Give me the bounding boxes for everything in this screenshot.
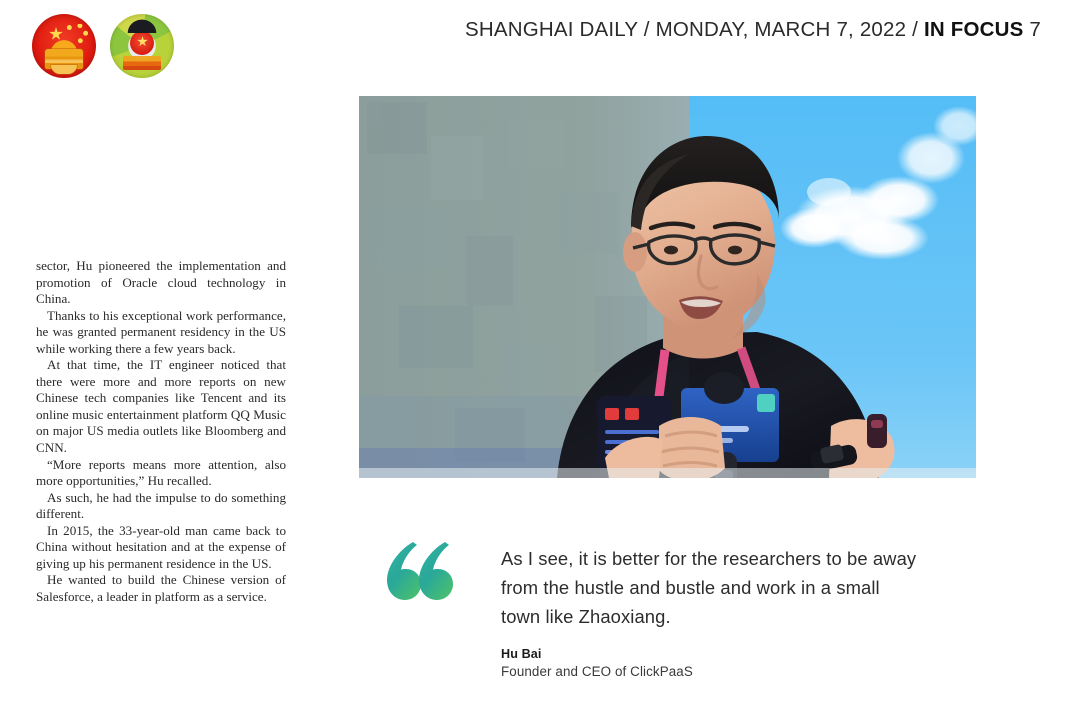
section-name: IN FOCUS [924,18,1024,41]
header-separator-2: / [906,18,924,41]
publication-name: SHANGHAI DAILY [465,18,638,41]
article-paragraph: Thanks to his exceptional work performan… [36,308,286,358]
emblem-group [32,14,174,78]
article-paragraph: He wanted to build the Chinese version o… [36,572,286,605]
article-paragraph: As such, he had the impulse to do someth… [36,490,286,523]
quotation-mark-icon [383,540,455,602]
quote-attribution-name: Hu Bai [501,647,921,661]
header-separator-1: / [638,18,656,41]
quote-glyph [383,540,455,602]
article-paragraph: sector, Hu pioneered the implementation … [36,258,286,308]
article-body-column: sector, Hu pioneered the implementation … [36,258,286,605]
article-photo [359,96,976,478]
article-paragraph: At that time, the IT engineer noticed th… [36,357,286,456]
national-emblem-of-china-icon [32,14,96,78]
cppcc-emblem-icon [110,14,174,78]
star-shape [137,36,148,47]
issue-date: MONDAY, MARCH 7, 2022 [656,18,907,41]
article-paragraph: “More reports means more attention, also… [36,457,286,490]
header-dateline: SHANGHAI DAILY / MONDAY, MARCH 7, 2022 /… [465,18,1041,42]
photo-illustration [359,96,976,478]
quote-body: As I see, it is better for the researche… [501,544,921,679]
gear-shape [51,65,77,74]
article-paragraph: In 2015, the 33-year-old man came back t… [36,523,286,573]
page-number: 7 [1029,18,1041,41]
quote-text: As I see, it is better for the researche… [501,544,921,631]
page-masthead: SHANGHAI DAILY / MONDAY, MARCH 7, 2022 /… [0,0,1079,96]
quote-attribution-role: Founder and CEO of ClickPaaS [501,664,921,679]
cppcc-base-shape [123,56,161,70]
